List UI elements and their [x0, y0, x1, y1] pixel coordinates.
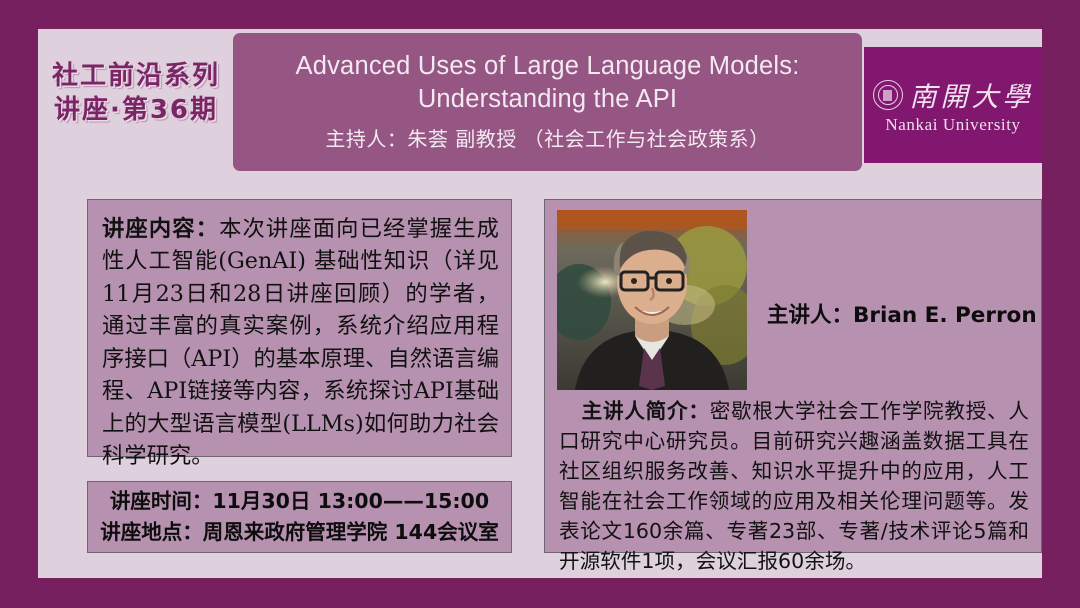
lecture-content-text: 讲座内容：本次讲座面向已经掌握生成性人工智能(GenAI) 基础性知识（详见11… [102, 213, 499, 473]
schedule-place: 讲座地点：周恩来政府管理学院 144会议室 [100, 517, 498, 548]
speaker-bio-label: 主讲人简介： [582, 399, 710, 423]
title-en-line1: Advanced Uses of Large Language Models: [233, 50, 862, 83]
speaker-bio-text: 密歇根大学社会工作学院教授、人口研究中心研究员。目前研究兴趣涵盖数据工具在社区组… [559, 399, 1029, 573]
lecture-content-label: 讲座内容： [102, 216, 219, 242]
poster-panel: 社工前沿系列 讲座·第36期 Advanced Uses of Large La… [38, 29, 1042, 578]
schedule-time: 讲座时间：11月30日 13:00——15:00 [110, 486, 489, 517]
title-en-line2: Understanding the API [233, 83, 862, 116]
series-title: 社工前沿系列 讲座·第36期 [38, 59, 234, 128]
university-seal-icon [873, 80, 903, 110]
lecture-content-box: 讲座内容：本次讲座面向已经掌握生成性人工智能(GenAI) 基础性知识（详见11… [87, 199, 512, 457]
university-name-cn: 南開大學 [910, 75, 1034, 114]
series-title-line1: 社工前沿系列 [38, 59, 234, 93]
university-name-en: Nankai University [885, 115, 1020, 135]
speaker-photo [557, 210, 747, 390]
title-banner: Advanced Uses of Large Language Models: … [233, 33, 862, 171]
speaker-bio: 主讲人简介：密歇根大学社会工作学院教授、人口研究中心研究员。目前研究兴趣涵盖数据… [559, 396, 1029, 576]
speaker-portrait-illustration [557, 210, 747, 390]
speaker-box: 主讲人：Brian E. Perron 主讲人简介：密歇根大学社会工作学院教授、… [544, 199, 1042, 553]
lecture-content-body: 本次讲座面向已经掌握生成性人工智能(GenAI) 基础性知识（详见11月23日和… [102, 216, 499, 469]
speaker-name: 主讲人：Brian E. Perron [767, 298, 1032, 329]
series-title-line2: 讲座·第36期 [38, 93, 234, 127]
university-logo-block: 南開大學 Nankai University [864, 47, 1042, 163]
poster-root: 社工前沿系列 讲座·第36期 Advanced Uses of Large La… [0, 0, 1080, 608]
host-line: 主持人：朱荟 副教授 （社会工作与社会政策系） [233, 123, 862, 152]
schedule-box: 讲座时间：11月30日 13:00——15:00 讲座地点：周恩来政府管理学院 … [87, 481, 512, 553]
